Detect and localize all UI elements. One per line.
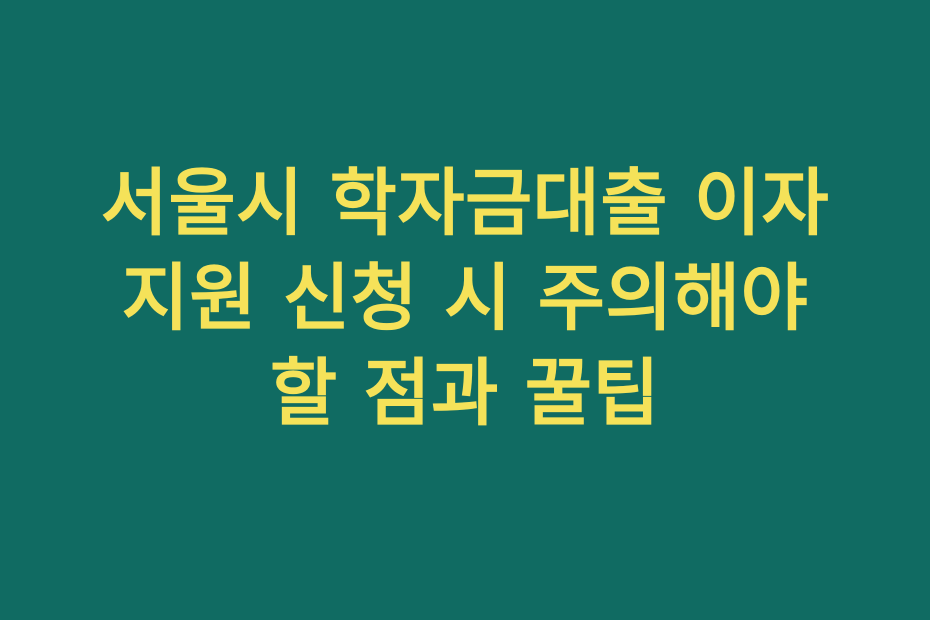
headline-block: 서울시 학자금대출 이자 지원 신청 시 주의해야 할 점과 꿀팁 xyxy=(0,156,930,441)
headline-line-3: 할 점과 꿀팁 xyxy=(24,346,906,441)
thumbnail-card: 서울시 학자금대출 이자 지원 신청 시 주의해야 할 점과 꿀팁 xyxy=(0,0,930,620)
headline-line-1: 서울시 학자금대출 이자 xyxy=(24,156,906,251)
headline-line-2: 지원 신청 시 주의해야 xyxy=(24,251,906,346)
